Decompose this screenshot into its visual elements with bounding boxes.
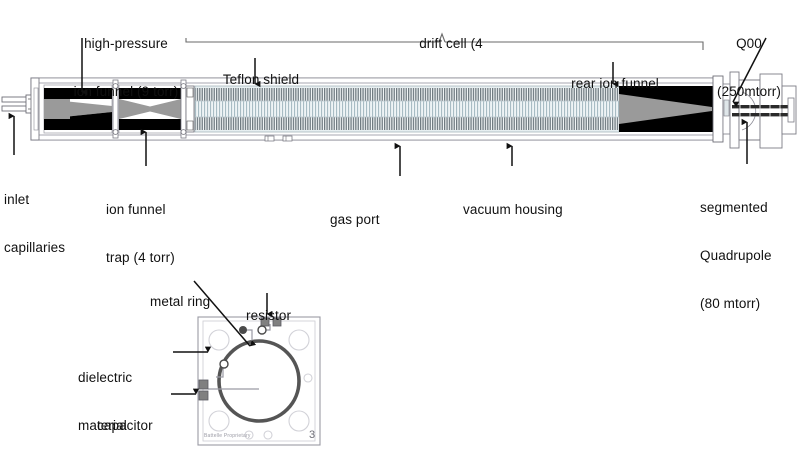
label-capacitor: capacitor [97, 386, 177, 466]
label-drift-cell: drift cell (4 [396, 4, 506, 84]
label-q00: Q00 (250mtorr) [700, 4, 798, 132]
label-teflon-shield: Teflon shield [206, 40, 316, 120]
label-high-pressure-ion-funnel: high-pressure ion funnel (9 torr) [46, 4, 206, 132]
label-rear-ion-funnel: rear ion funnel [555, 44, 675, 124]
board-marking-text: Battelle Proprietary [204, 433, 251, 439]
label-gas-port: gas port [330, 180, 420, 260]
label-vacuum-housing: vacuum housing [463, 170, 603, 250]
figure-canvas: high-pressure ion funnel (9 torr) Teflon… [0, 0, 800, 451]
inlet-capillaries-graphic [2, 95, 35, 113]
left-flange [31, 78, 39, 140]
board-number: 3 [309, 429, 315, 441]
capacitor-pad-upper [199, 380, 208, 389]
label-metal-ring: metal ring [150, 262, 250, 342]
solder-dot-open-2 [220, 360, 228, 368]
capacitor-pad-lower [199, 391, 208, 400]
label-segmented-quadrupole: segmented Quadrupole (80 mtorr) [700, 168, 800, 344]
label-inlet-capillaries: inlet capillaries [4, 160, 114, 288]
label-resistor: resistor [246, 276, 326, 356]
